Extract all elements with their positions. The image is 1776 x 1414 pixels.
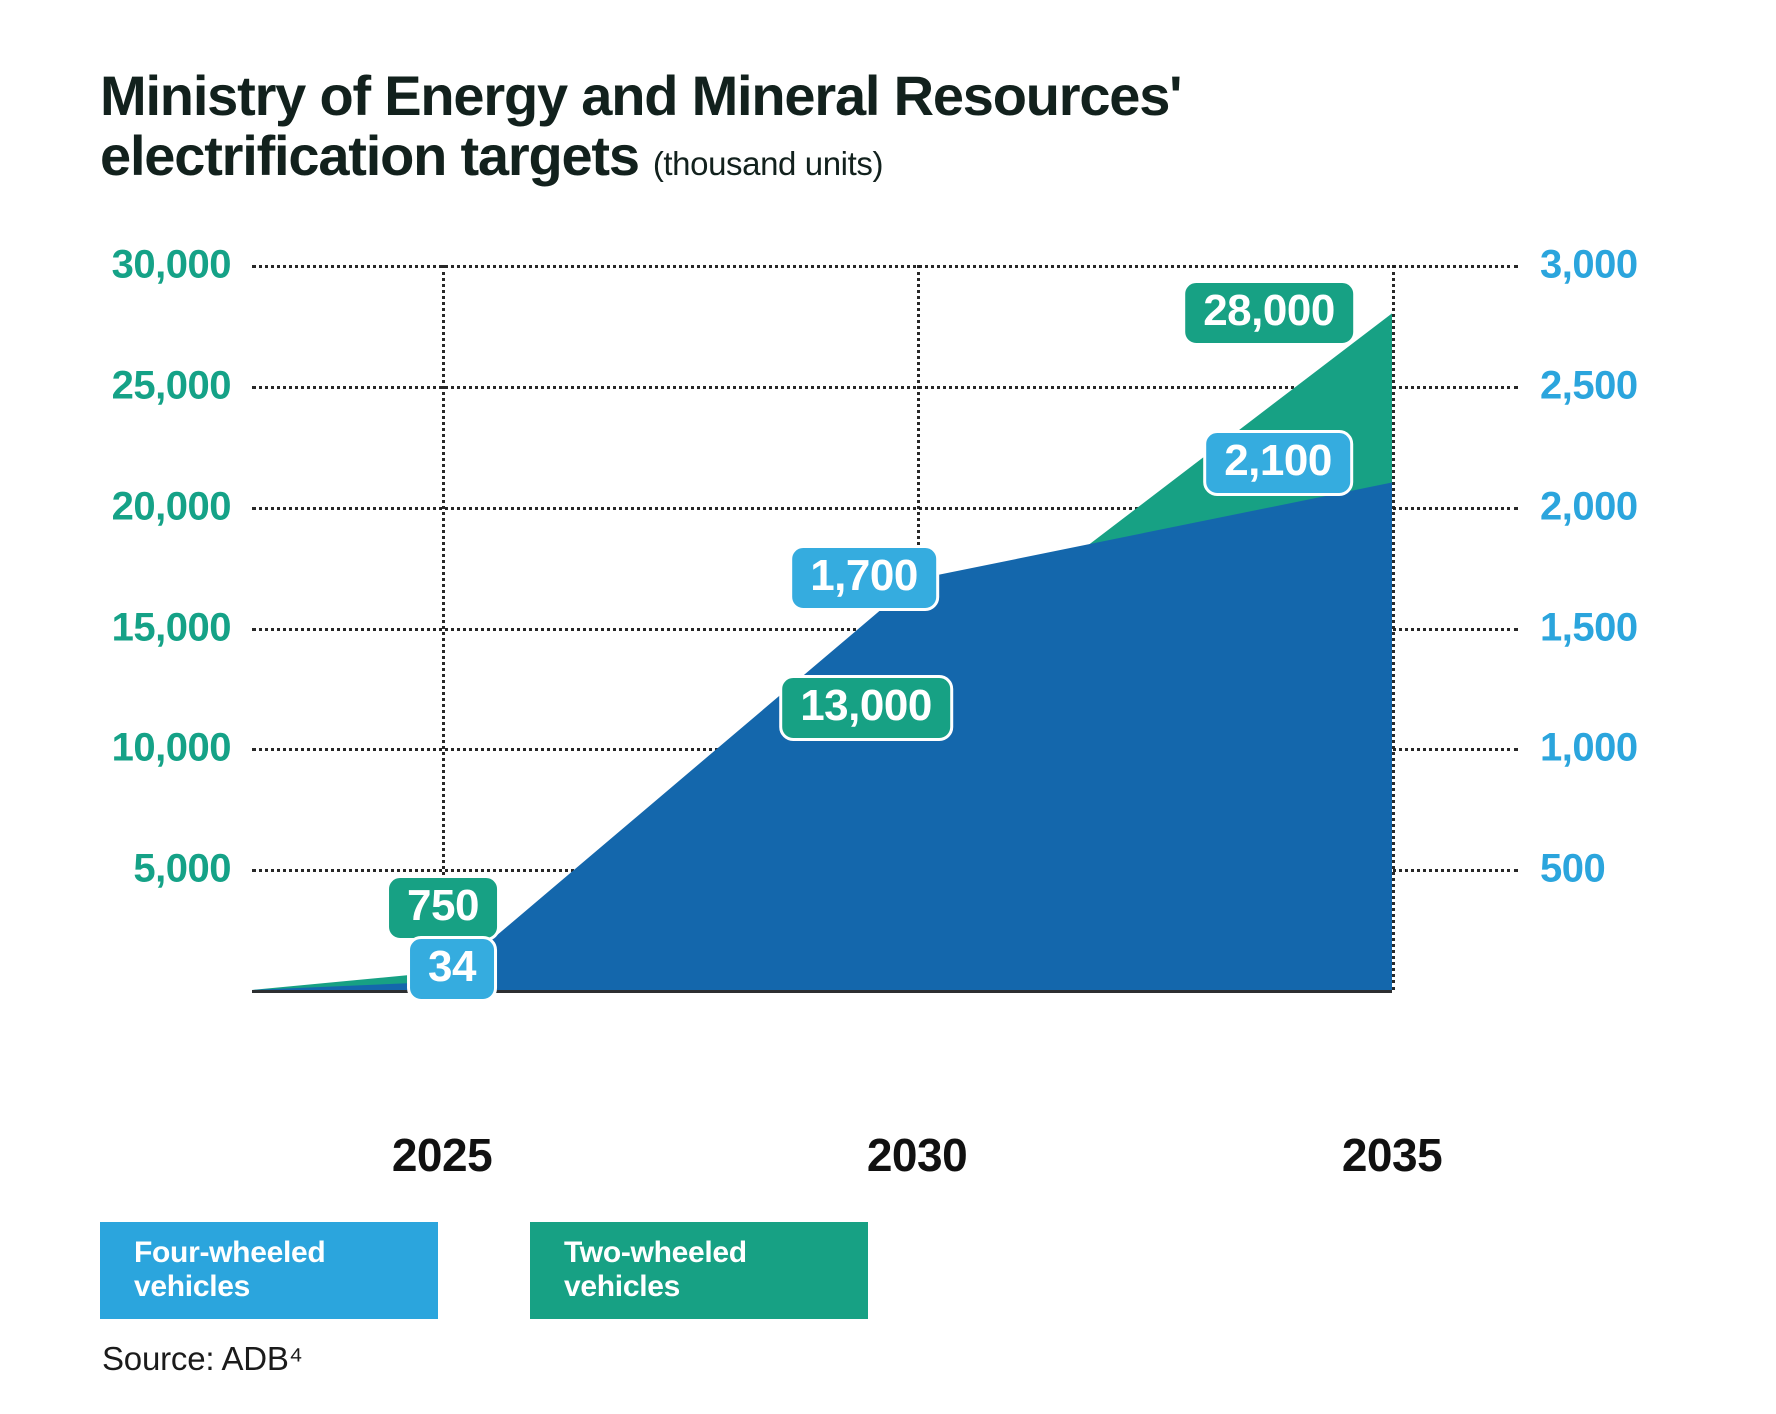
x-axis-tick-label: 2025 [392,1128,492,1182]
gridline-vertical [1392,265,1395,990]
data-label-lbl-two-2025: 750 [386,875,500,941]
legend-item-two-wheeled[interactable]: Two-wheeled vehicles [530,1222,868,1319]
source-note: Source: ADB⁴ [102,1340,303,1378]
y-axis-right-tick-label: 2,000 [1540,485,1638,530]
x-axis-tick-label: 2030 [867,1128,967,1182]
page-title-line-2: electrification targets(thousand units) [100,126,1500,186]
data-label-lbl-four-2030: 1,700 [789,545,939,611]
data-label-lbl-four-2035: 2,100 [1203,430,1353,496]
legend-item-four-wheeled-label-2: vehicles [134,1270,420,1304]
y-axis-right-tick-label: 1,500 [1540,606,1638,651]
y-axis-right-tick-label: 3,000 [1540,243,1638,288]
y-axis-right-tick-label: 500 [1540,847,1605,892]
legend-item-four-wheeled-label-1: Four-wheeled [134,1236,420,1270]
y-axis-left-tick-label: 20,000 [112,485,231,530]
chart-title-block: Ministry of Energy and Mineral Resources… [100,66,1500,187]
legend-item-two-wheeled-label-2: vehicles [564,1270,850,1304]
data-label-lbl-two-2035: 28,000 [1182,280,1356,346]
chart-legend: Four-wheeled vehicles Two-wheeled vehicl… [100,1222,868,1319]
y-axis-left-tick-label: 25,000 [112,364,231,409]
legend-item-four-wheeled[interactable]: Four-wheeled vehicles [100,1222,438,1319]
x-axis-tick-label: 2035 [1342,1128,1442,1182]
y-axis-left-tick-label: 30,000 [112,243,231,288]
y-axis-right-tick-label: 2,500 [1540,364,1638,409]
y-axis-left-tick-label: 15,000 [112,606,231,651]
data-label-lbl-two-2030: 13,000 [779,675,953,741]
page-title-line-1: Ministry of Energy and Mineral Resources… [100,66,1500,126]
y-axis-left-tick-label: 10,000 [112,726,231,771]
y-axis-left-tick-label: 5,000 [133,847,231,892]
y-axis-right-tick-label: 1,000 [1540,726,1638,771]
page-title-line-2-text: electrification targets [100,124,639,187]
page-title-unit: (thousand units) [653,145,883,182]
legend-item-two-wheeled-label-1: Two-wheeled [564,1236,850,1270]
data-label-lbl-four-2025: 34 [407,936,497,1002]
